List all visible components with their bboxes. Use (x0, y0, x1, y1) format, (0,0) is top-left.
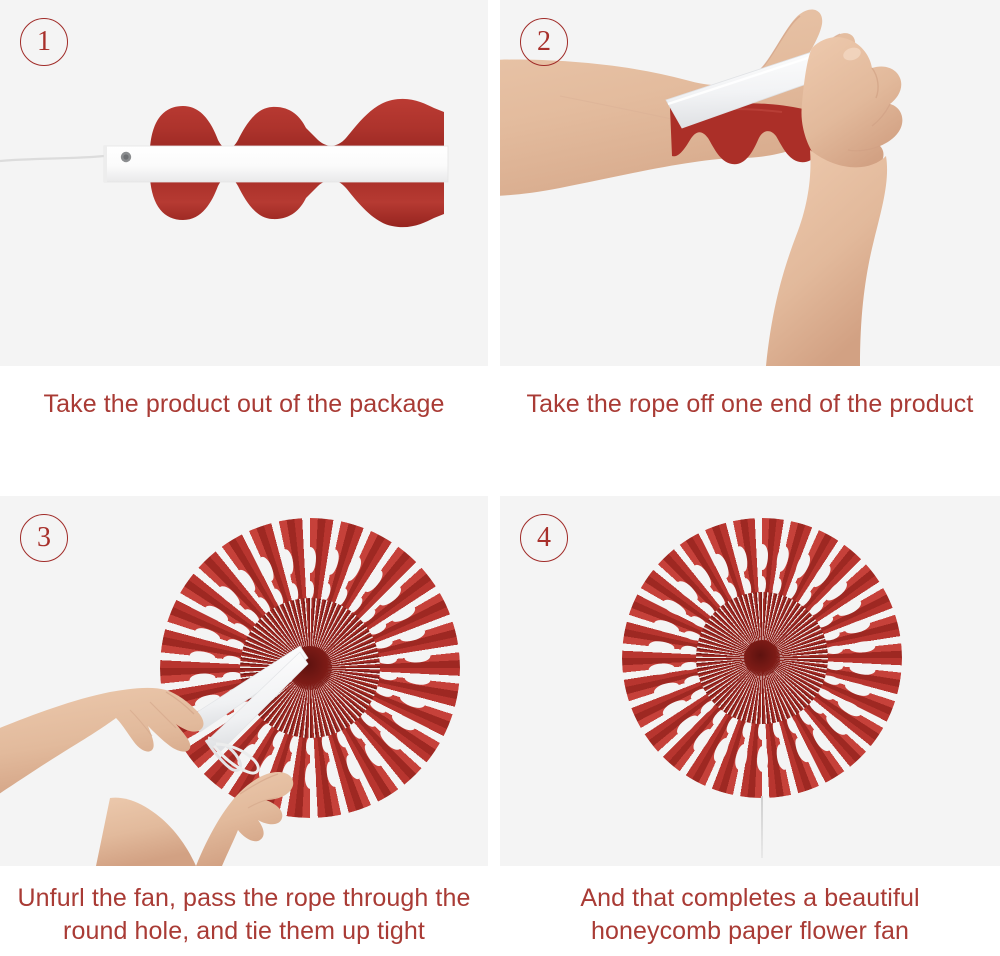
fan-hanging-stem (761, 796, 763, 858)
step-3-caption: Unfurl the fan, pass the rope through th… (0, 882, 488, 948)
instruction-step-3: 3 (0, 496, 488, 956)
white-card-strip (104, 146, 448, 182)
step-2-badge: 2 (520, 18, 568, 66)
right-forearm (766, 150, 887, 366)
fan-hub (744, 640, 780, 676)
hands-unfurling-illustration (0, 496, 488, 866)
honeycomb-upper (150, 99, 444, 149)
package-illustration (0, 0, 488, 366)
honeycomb-lower (150, 177, 444, 227)
instruction-step-2: 2 (500, 0, 1000, 440)
instruction-step-4: 4 And that completes a beautiful honeyco… (500, 496, 1000, 956)
step-2-caption: Take the rope off one end of the product (500, 388, 1000, 421)
right-forearm (96, 798, 196, 866)
fan-cutout (758, 722, 766, 740)
step-3-badge: 3 (20, 514, 68, 562)
right-hand (196, 772, 293, 866)
step-1-caption: Take the product out of the package (0, 388, 488, 421)
step-4-caption: And that completes a beautiful honeycomb… (500, 882, 1000, 948)
step-2-photo: 2 (500, 0, 1000, 366)
instruction-step-1: 1 (0, 0, 488, 440)
hands-removing-rope-illustration (500, 0, 1000, 366)
step-3-photo: 3 (0, 496, 488, 866)
finished-fan (622, 518, 902, 798)
step-4-badge: 4 (520, 514, 568, 562)
step-1-badge: 1 (20, 18, 68, 66)
step-4-photo: 4 (500, 496, 1000, 866)
step-1-photo: 1 (0, 0, 488, 366)
hanging-string (0, 154, 120, 161)
left-hand (0, 688, 203, 800)
instruction-sheet: 1 (0, 0, 1000, 956)
